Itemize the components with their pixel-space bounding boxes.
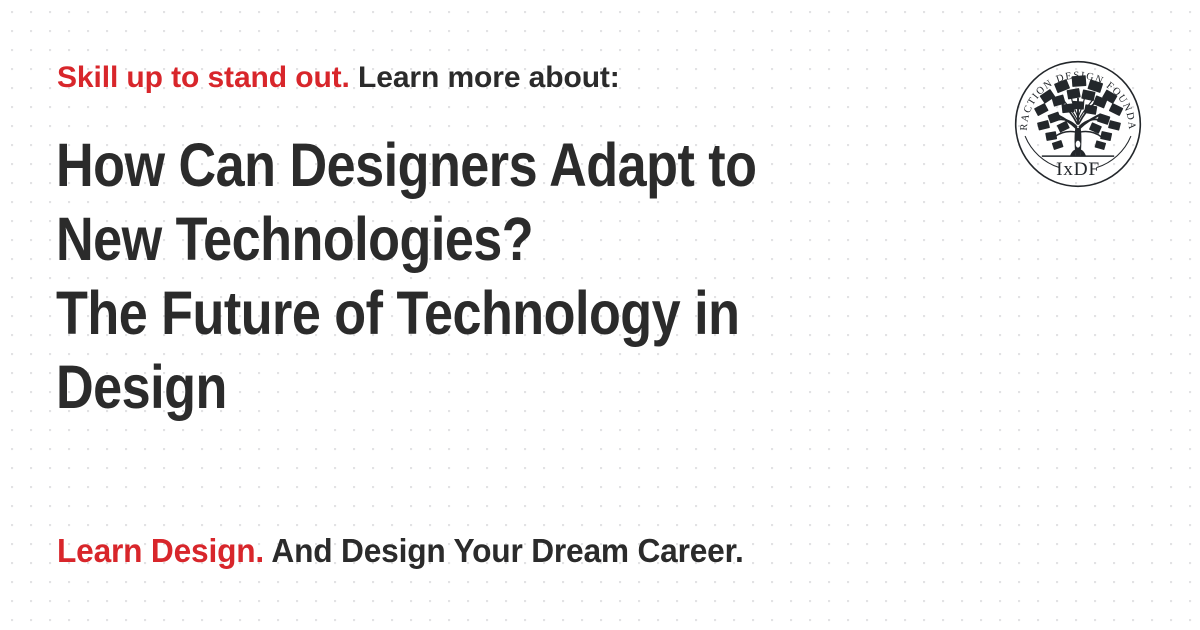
tagline-rest-text: And Design Your Dream Career.	[264, 532, 744, 569]
page-title: How Can Designers Adapt to New Technolog…	[56, 128, 916, 424]
logo-wordmark: IxDF	[1056, 159, 1100, 180]
headline-line-3: The Future of Technology in	[56, 276, 916, 350]
ixdf-logo: INTERACTION DESIGN FOUNDATION	[1011, 57, 1145, 191]
headline-line-4: Design	[56, 350, 916, 424]
tagline: Learn Design. And Design Your Dream Care…	[57, 530, 1075, 572]
eyebrow-accent-text: Skill up to stand out.	[57, 61, 350, 94]
eyebrow-line: Skill up to stand out. Learn more about:	[57, 58, 937, 98]
og-card: Skill up to stand out. Learn more about:…	[0, 0, 1200, 630]
headline-line-1: How Can Designers Adapt to	[56, 128, 916, 202]
headline-line-2: New Technologies?	[56, 202, 916, 276]
tagline-accent-text: Learn Design.	[57, 532, 264, 569]
eyebrow-rest-text: Learn more about:	[350, 61, 620, 94]
